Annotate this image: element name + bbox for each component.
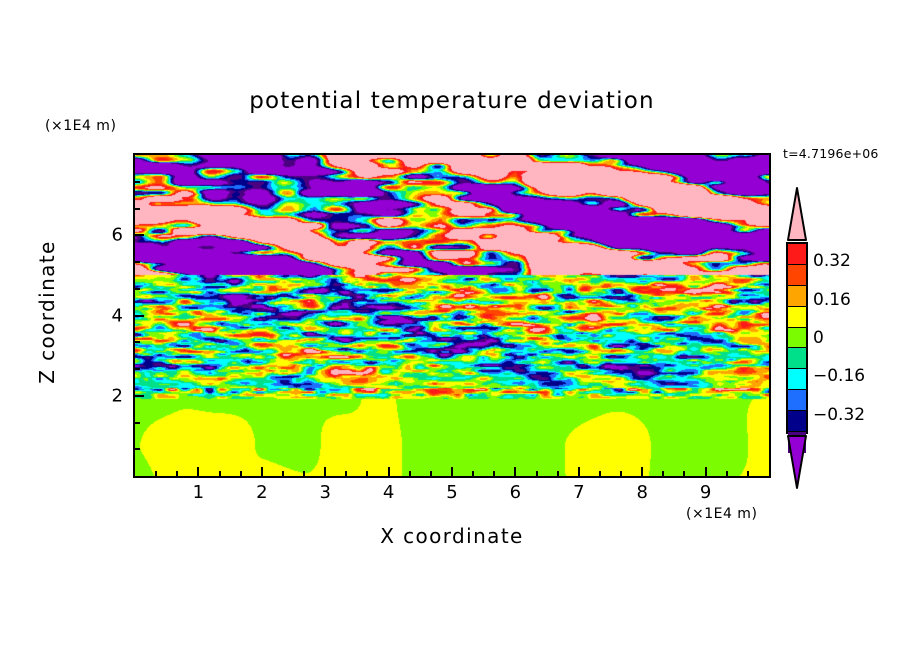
colorbar-band [788, 265, 806, 286]
y-tick-label: 6 [101, 225, 123, 246]
colorbar-band [788, 369, 806, 390]
x-tick-label: 4 [383, 482, 394, 503]
colorbar-tick-label: 0.32 [813, 251, 851, 271]
contour-field-canvas [135, 155, 769, 476]
x-tick-major [514, 467, 516, 476]
y-tick-minor [135, 208, 140, 210]
x-tick-minor [747, 471, 749, 476]
x-tick-minor [493, 471, 495, 476]
x-tick-label: 1 [193, 482, 204, 503]
y-tick-major [135, 234, 144, 236]
x-tick-major [324, 467, 326, 476]
x-tick-major [261, 467, 263, 476]
colorbar-band [788, 348, 806, 369]
colorbar-band [788, 286, 806, 307]
colorbar-band [788, 244, 806, 265]
x-tick-major [641, 467, 643, 476]
x-tick-minor [240, 471, 242, 476]
x-tick-minor [557, 471, 559, 476]
x-tick-label: 2 [256, 482, 267, 503]
x-axis-title: X coordinate [0, 524, 904, 548]
x-tick-minor [536, 471, 538, 476]
x-tick-major [578, 467, 580, 476]
x-tick-minor [599, 471, 601, 476]
x-tick-minor [726, 471, 728, 476]
colorbar-over-arrow [786, 186, 808, 242]
x-tick-label: 8 [636, 482, 647, 503]
x-tick-label: 6 [510, 482, 521, 503]
x-tick-minor [155, 471, 157, 476]
colorbar-band [788, 411, 806, 432]
x-tick-minor [282, 471, 284, 476]
y-tick-minor [135, 181, 140, 183]
x-axis-unit-label: (×1E4 m) [686, 506, 757, 522]
colorbar-tick-label: −0.32 [813, 405, 865, 425]
y-axis-unit-label: (×1E4 m) [45, 118, 116, 134]
time-annotation: t=4.7196e+06 [783, 146, 879, 161]
y-tick-label: 2 [101, 385, 123, 406]
y-tick-major [135, 315, 144, 317]
x-tick-major [197, 467, 199, 476]
x-tick-minor [366, 471, 368, 476]
y-tick-label: 4 [101, 305, 123, 326]
colorbar[interactable]: 0.320.160−0.16−0.32 [783, 186, 813, 490]
colorbar-under-arrow [786, 434, 808, 490]
x-tick-minor [176, 471, 178, 476]
x-tick-label: 3 [319, 482, 330, 503]
y-tick-minor [135, 341, 140, 343]
colorbar-tick-label: 0.16 [813, 290, 851, 310]
colorbar-band [788, 390, 806, 411]
x-tick-minor [620, 471, 622, 476]
x-tick-label: 9 [700, 482, 711, 503]
x-tick-minor [662, 471, 664, 476]
y-tick-minor [135, 261, 140, 263]
x-tick-major [705, 467, 707, 476]
y-axis-title: Z coordinate [35, 232, 59, 392]
colorbar-tick-label: 0 [813, 328, 824, 348]
x-tick-minor [430, 471, 432, 476]
colorbar-bands [786, 242, 808, 434]
y-tick-minor [135, 368, 140, 370]
colorbar-band [788, 328, 806, 349]
x-tick-minor [683, 471, 685, 476]
x-tick-major [388, 467, 390, 476]
colorbar-tick-label: −0.16 [813, 366, 865, 386]
contour-plot-area[interactable] [133, 153, 771, 478]
x-tick-major [451, 467, 453, 476]
x-tick-minor [219, 471, 221, 476]
y-tick-minor [135, 422, 140, 424]
y-tick-major [135, 395, 144, 397]
y-tick-minor [135, 448, 140, 450]
y-tick-minor [135, 288, 140, 290]
colorbar-band [788, 307, 806, 328]
x-tick-label: 5 [446, 482, 457, 503]
x-tick-minor [303, 471, 305, 476]
x-tick-minor [409, 471, 411, 476]
page-title: potential temperature deviation [0, 88, 904, 114]
x-tick-label: 7 [573, 482, 584, 503]
x-tick-minor [472, 471, 474, 476]
x-tick-minor [345, 471, 347, 476]
